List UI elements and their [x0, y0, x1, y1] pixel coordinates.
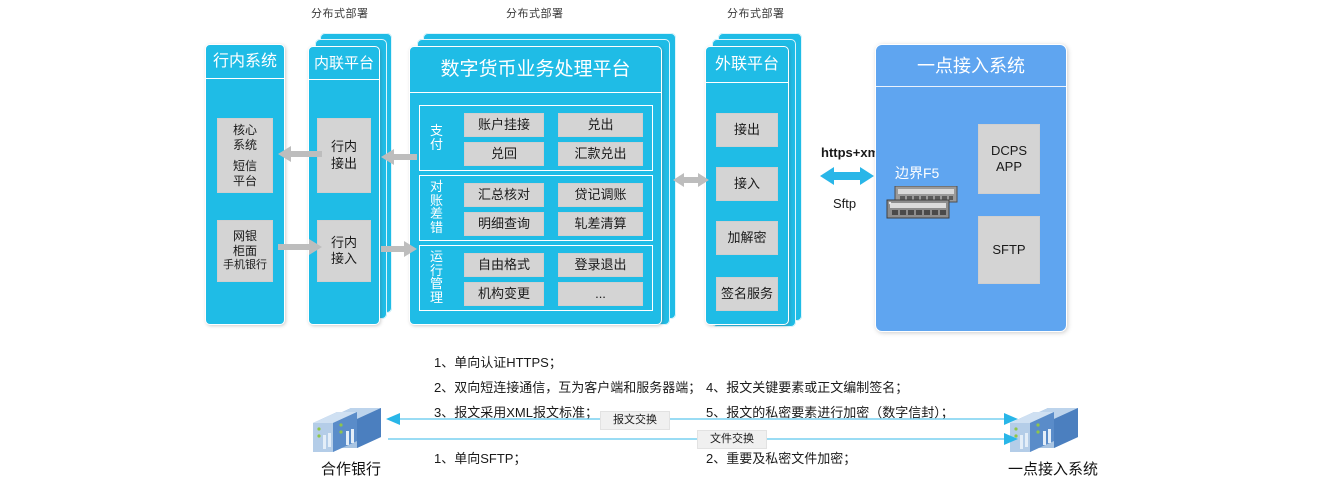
panel-internal-system-title: 行内系统 — [206, 45, 284, 79]
server-left-icon — [311, 405, 391, 455]
chip-intranet-outbound[interactable]: 行内 接出 — [317, 118, 371, 193]
panel-dcep-platform-title: 数字货币业务处理平台 — [410, 47, 661, 93]
chip-redeem-back[interactable]: 兑回 — [464, 142, 544, 166]
chip-redeem-out[interactable]: 兑出 — [558, 113, 643, 137]
chip-org-change[interactable]: 机构变更 — [464, 282, 544, 306]
deploy-label-external: 分布式部署 — [727, 5, 785, 21]
arrow-right-intranet-icon — [278, 238, 322, 256]
link-label-https-xml: https+xml — [821, 145, 883, 160]
arrow-bidirectional-dcep-external-icon — [673, 171, 709, 189]
group-payment-label: 支付 — [429, 124, 444, 151]
chip-more[interactable]: ... — [558, 282, 643, 306]
chip-sftp[interactable]: SFTP — [978, 216, 1040, 284]
chip-intranet-inbound-line2: 接入 — [331, 251, 357, 267]
chip-ebank-line3: 手机银行 — [223, 259, 267, 273]
chip-ebank-line1: 网银 — [233, 229, 257, 244]
chip-ebank-counter-mobile[interactable]: 网银 柜面 手机银行 — [217, 220, 273, 282]
chip-account-link[interactable]: 账户挂接 — [464, 113, 544, 137]
group-reconciliation-label: 对账差错 — [429, 180, 444, 235]
chip-ebank-line2: 柜面 — [233, 244, 257, 259]
chip-external-outbound[interactable]: 接出 — [716, 113, 778, 147]
exchange-label-message: 报文交换 — [600, 411, 670, 430]
note-left-2: 2、双向短连接通信，互为客户端和服务器端； — [434, 377, 701, 396]
chip-login-logout[interactable]: 登录退出 — [558, 253, 643, 277]
link-label-sftp: Sftp — [833, 196, 856, 211]
note-left-1: 1、单向认证HTTPS； — [434, 352, 562, 371]
panel-access-system-title: 一点接入系统 — [876, 45, 1066, 87]
line-message-exchange — [386, 412, 1018, 426]
server-left-caption: 合作银行 — [311, 458, 391, 479]
chip-dcps-app-line2: APP — [996, 159, 1022, 175]
panel-intranet-platform-title: 内联平台 — [309, 47, 379, 80]
chip-intranet-inbound[interactable]: 行内 接入 — [317, 220, 371, 282]
arrow-left-intranet-dcep-icon — [381, 148, 417, 166]
chip-free-format[interactable]: 自由格式 — [464, 253, 544, 277]
arrow-bidirectional-cyan-icon — [820, 165, 874, 187]
exchange-label-file: 文件交换 — [697, 430, 767, 449]
chip-netting-settle[interactable]: 轧差清算 — [558, 212, 643, 236]
group-operation-label: 运行管理 — [429, 250, 444, 305]
server-right-caption: 一点接入系统 — [1003, 458, 1103, 479]
chip-encrypt-decrypt[interactable]: 加解密 — [716, 221, 778, 255]
chip-summary-check[interactable]: 汇总核对 — [464, 183, 544, 207]
chip-detail-query[interactable]: 明细查询 — [464, 212, 544, 236]
chip-credit-adjust[interactable]: 贷记调账 — [558, 183, 643, 207]
chip-core-line1: 核心 — [233, 123, 257, 138]
chip-sms-line2: 平台 — [233, 174, 257, 189]
note-bottom-left: 1、单向SFTP； — [434, 448, 526, 467]
chip-core-system-sms[interactable]: 核心 系统 短信 平台 — [217, 118, 273, 193]
note-right-4: 4、报文关键要素或正文编制签名； — [706, 377, 908, 396]
note-bottom-right: 2、重要及私密文件加密； — [706, 448, 856, 467]
arrow-right-intranet-dcep-icon — [381, 240, 417, 258]
chip-dcps-app-line1: DCPS — [991, 143, 1027, 159]
deploy-label-intranet: 分布式部署 — [311, 5, 369, 21]
chip-signature-service[interactable]: 签名服务 — [716, 277, 778, 311]
network-switch-icon — [885, 186, 961, 226]
arrow-left-internal-icon — [278, 145, 322, 163]
f5-label: 边界F5 — [895, 163, 939, 183]
chip-core-line2: 系统 — [233, 138, 257, 153]
chip-external-inbound[interactable]: 接入 — [716, 167, 778, 201]
server-right-icon — [1008, 405, 1088, 455]
panel-external-platform-title: 外联平台 — [706, 47, 788, 83]
chip-intranet-inbound-line1: 行内 — [331, 235, 357, 251]
chip-sms-line1: 短信 — [233, 159, 257, 174]
chip-remittance-out[interactable]: 汇款兑出 — [558, 142, 643, 166]
chip-intranet-outbound-line1: 行内 — [331, 139, 357, 155]
deploy-label-dcep: 分布式部署 — [506, 5, 564, 21]
chip-intranet-outbound-line2: 接出 — [331, 156, 357, 172]
chip-dcps-app[interactable]: DCPS APP — [978, 124, 1040, 194]
